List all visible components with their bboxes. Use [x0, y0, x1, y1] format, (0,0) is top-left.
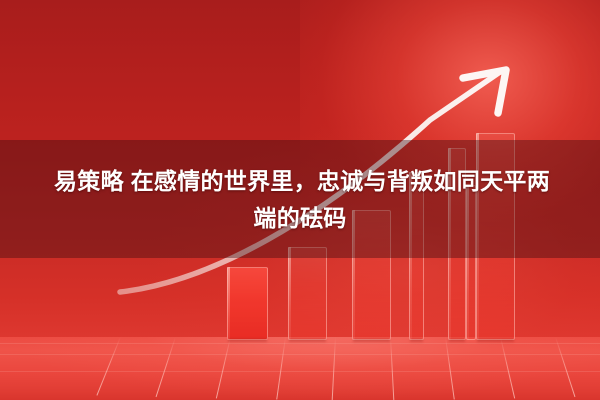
chart-bar	[288, 247, 327, 340]
caption-line-2: 端的砝码	[253, 201, 346, 235]
caption-line-1: 易策略 在感情的世界里，忠诚与背叛如同天平两	[50, 164, 550, 198]
caption-text: 易策略 在感情的世界里，忠诚与背叛如同天平两 端的砝码	[0, 140, 600, 258]
chart-bar	[227, 267, 268, 340]
banner-image: 易策略 在感情的世界里，忠诚与背叛如同天平两 端的砝码	[0, 0, 600, 400]
